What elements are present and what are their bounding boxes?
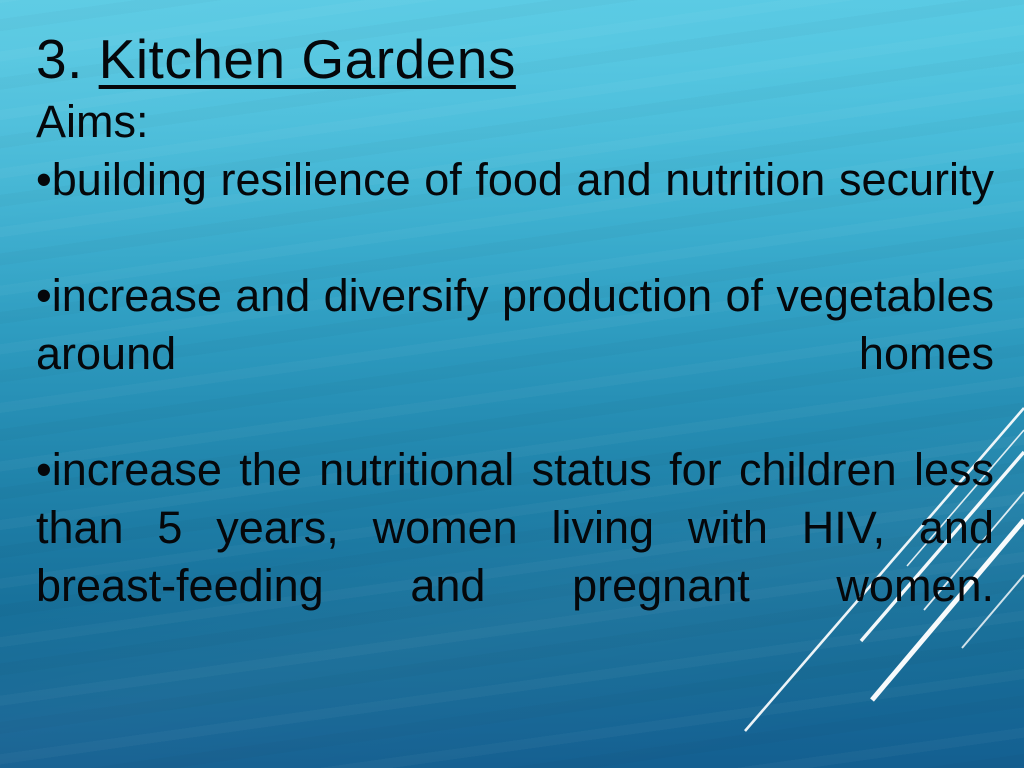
bullet-marker-icon: •	[36, 154, 52, 205]
bullet-item-1-text: building resilience of food and nutritio…	[52, 154, 994, 205]
bullet-item-3-text: increase the nutritional status for chil…	[36, 444, 994, 611]
bullet-marker-icon: •	[36, 270, 52, 321]
bullet-item-2: •increase and diversify production of ve…	[36, 267, 994, 441]
bullet-item-1: •building resilience of food and nutriti…	[36, 151, 994, 267]
presentation-slide: 3. Kitchen Gardens Aims: •building resil…	[0, 0, 1024, 768]
bullet-marker-icon: •	[36, 444, 52, 495]
slide-body: Aims: •building resilience of food and n…	[36, 93, 994, 673]
slide-title-text: Kitchen Gardens	[99, 28, 516, 90]
bullet-item-2-text: increase and diversify production of veg…	[36, 270, 994, 379]
slide-title: 3. Kitchen Gardens	[36, 18, 994, 87]
slide-content: 3. Kitchen Gardens Aims: •building resil…	[36, 18, 994, 673]
slide-title-number: 3.	[36, 28, 83, 90]
body-heading: Aims:	[36, 93, 994, 151]
bullet-item-3: •increase the nutritional status for chi…	[36, 441, 994, 673]
